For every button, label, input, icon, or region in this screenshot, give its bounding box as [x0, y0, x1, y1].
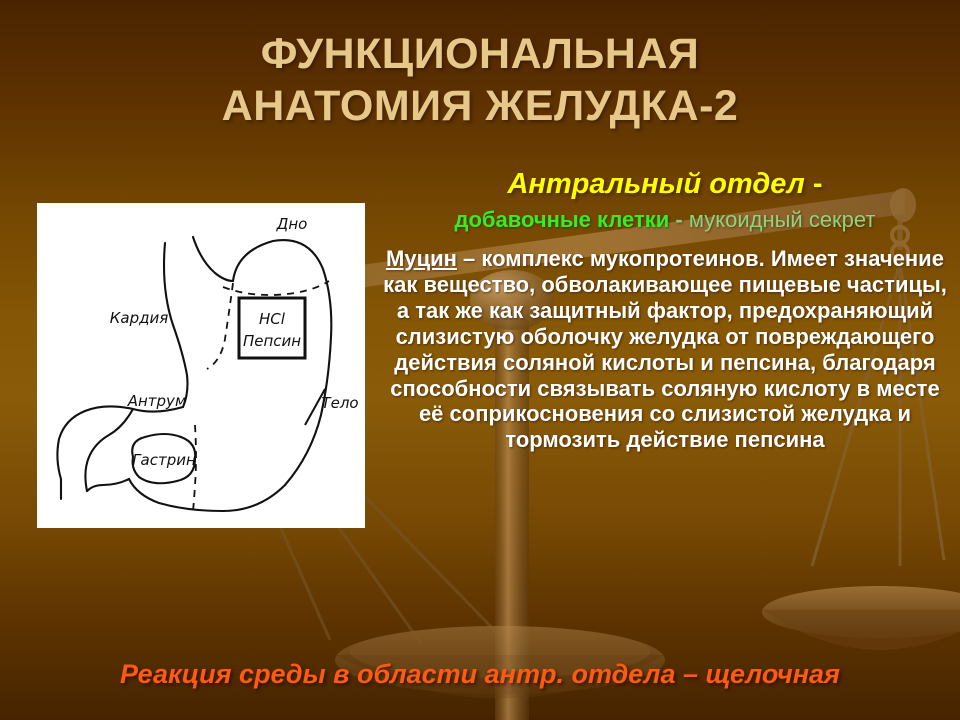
section-heading: Антральный отдел -	[380, 168, 950, 201]
subheading-cells: добавочные клетки	[454, 207, 669, 232]
title-line-2: АНАТОМИЯ ЖЕЛУДКА-2	[0, 80, 960, 132]
antrum-lower-wall	[129, 479, 223, 511]
pepsin-label: Пепсин	[243, 332, 301, 350]
section-heading-text: Антральный отдел	[507, 168, 804, 200]
title-line-1: ФУНКЦИОНАЛЬНАЯ	[0, 28, 960, 80]
fundus-boundary-dashed	[223, 281, 329, 295]
body-paragraph-text: – комплекс мукопротеинов. Имеет значение…	[383, 246, 947, 453]
hcl-pepsin-box: HCl Пепсин	[239, 298, 305, 358]
body-label: Тело	[321, 394, 358, 412]
greater-curvature-line	[223, 240, 331, 511]
body-paragraph: Муцин – комплекс мукопротеинов. Имеет зн…	[380, 246, 950, 454]
duodenum-outer-line	[57, 411, 85, 479]
fundus-label: Дно	[276, 215, 308, 233]
mucin-term: Муцин	[386, 246, 457, 271]
stomach-diagram: HCl Пепсин Гастрин Дно Кардия Антрум Тел…	[37, 203, 365, 528]
duodenum-inner-line	[87, 479, 129, 491]
slide-canvas: ФУНКЦИОНАЛЬНАЯ АНАТОМИЯ ЖЕЛУДКА-2	[0, 0, 960, 720]
gastrin-blob: Гастрин	[132, 434, 196, 483]
content-column: Антральный отдел - добавочные клетки - м…	[380, 168, 950, 453]
cardiac-notch-line	[193, 237, 233, 281]
subheading-secretion: мукоидный секрет	[689, 207, 876, 232]
subheading-dash: -	[675, 207, 682, 232]
section-heading-dash: -	[813, 168, 823, 200]
antrum-label: Антрум	[127, 392, 187, 410]
bottom-statement: Реакция среды в области антр. отдела – щ…	[0, 659, 960, 690]
cardia-label: Кардия	[110, 309, 169, 327]
stomach-diagram-svg: HCl Пепсин Гастрин Дно Кардия Антрум Тел…	[37, 203, 365, 528]
cardia-boundary-dashed	[207, 283, 233, 369]
page-title: ФУНКЦИОНАЛЬНАЯ АНАТОМИЯ ЖЕЛУДКА-2	[0, 28, 960, 133]
section-subheading: добавочные клетки - мукоидный секрет	[380, 207, 950, 233]
gastrin-label: Гастрин	[132, 451, 196, 469]
duodenal-bulb-line	[85, 409, 133, 491]
hcl-label: HCl	[259, 310, 286, 328]
